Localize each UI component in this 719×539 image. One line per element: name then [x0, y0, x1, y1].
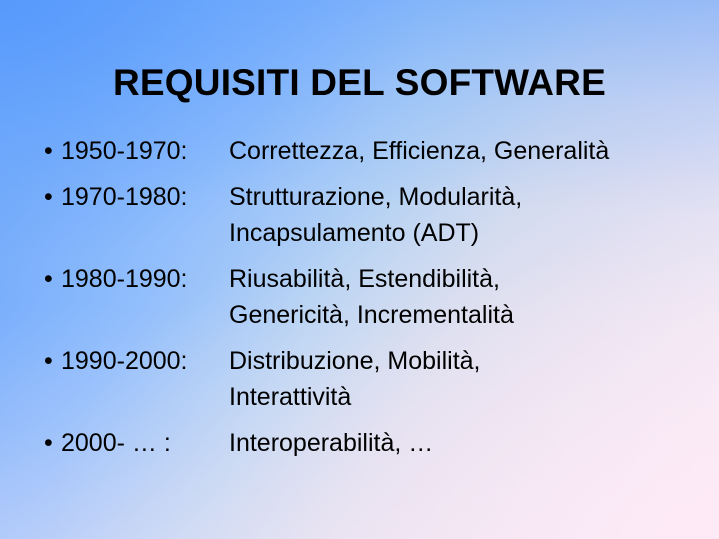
requirements-column: Interoperabilità, … [229, 425, 704, 461]
requirement-line: Interattività [229, 379, 704, 415]
bullet-icon: • [44, 179, 61, 215]
slide-canvas: REQUISITI DEL SOFTWARE • 1950-1970: Corr… [0, 0, 719, 539]
requirements-column: Distribuzione, Mobilità, Interattività [229, 343, 704, 415]
period-label: 2000- … : [61, 425, 229, 461]
requirement-line: Correttezza, Efficienza, Generalità [229, 133, 704, 169]
list-item: • 1950-1970: Correttezza, Efficienza, Ge… [44, 133, 704, 169]
slide-content: REQUISITI DEL SOFTWARE • 1950-1970: Corr… [0, 0, 719, 539]
period-label: 1990-2000: [61, 343, 229, 379]
bullet-icon: • [44, 425, 61, 461]
requirement-line: Incapsulamento (ADT) [229, 215, 704, 251]
requirement-line: Distribuzione, Mobilità, [229, 343, 704, 379]
slide-title: REQUISITI DEL SOFTWARE [0, 62, 719, 104]
requirement-line: Riusabilità, Estendibilità, [229, 261, 704, 297]
period-label: 1970-1980: [61, 179, 229, 215]
list-item: • 1980-1990: Riusabilità, Estendibilità,… [44, 261, 704, 333]
requirement-line: Interoperabilità, … [229, 425, 704, 461]
bullet-icon: • [44, 133, 61, 169]
requirement-line: Genericità, Incrementalità [229, 297, 704, 333]
requirements-column: Riusabilità, Estendibilità, Genericità, … [229, 261, 704, 333]
requirement-line: Strutturazione, Modularità, [229, 179, 704, 215]
period-label: 1950-1970: [61, 133, 229, 169]
list-item: • 2000- … : Interoperabilità, … [44, 425, 704, 461]
requirements-list: • 1950-1970: Correttezza, Efficienza, Ge… [44, 133, 704, 471]
period-label: 1980-1990: [61, 261, 229, 297]
bullet-icon: • [44, 261, 61, 297]
bullet-icon: • [44, 343, 61, 379]
list-item: • 1990-2000: Distribuzione, Mobilità, In… [44, 343, 704, 415]
list-item: • 1970-1980: Strutturazione, Modularità,… [44, 179, 704, 251]
requirements-column: Strutturazione, Modularità, Incapsulamen… [229, 179, 704, 251]
requirements-column: Correttezza, Efficienza, Generalità [229, 133, 704, 169]
